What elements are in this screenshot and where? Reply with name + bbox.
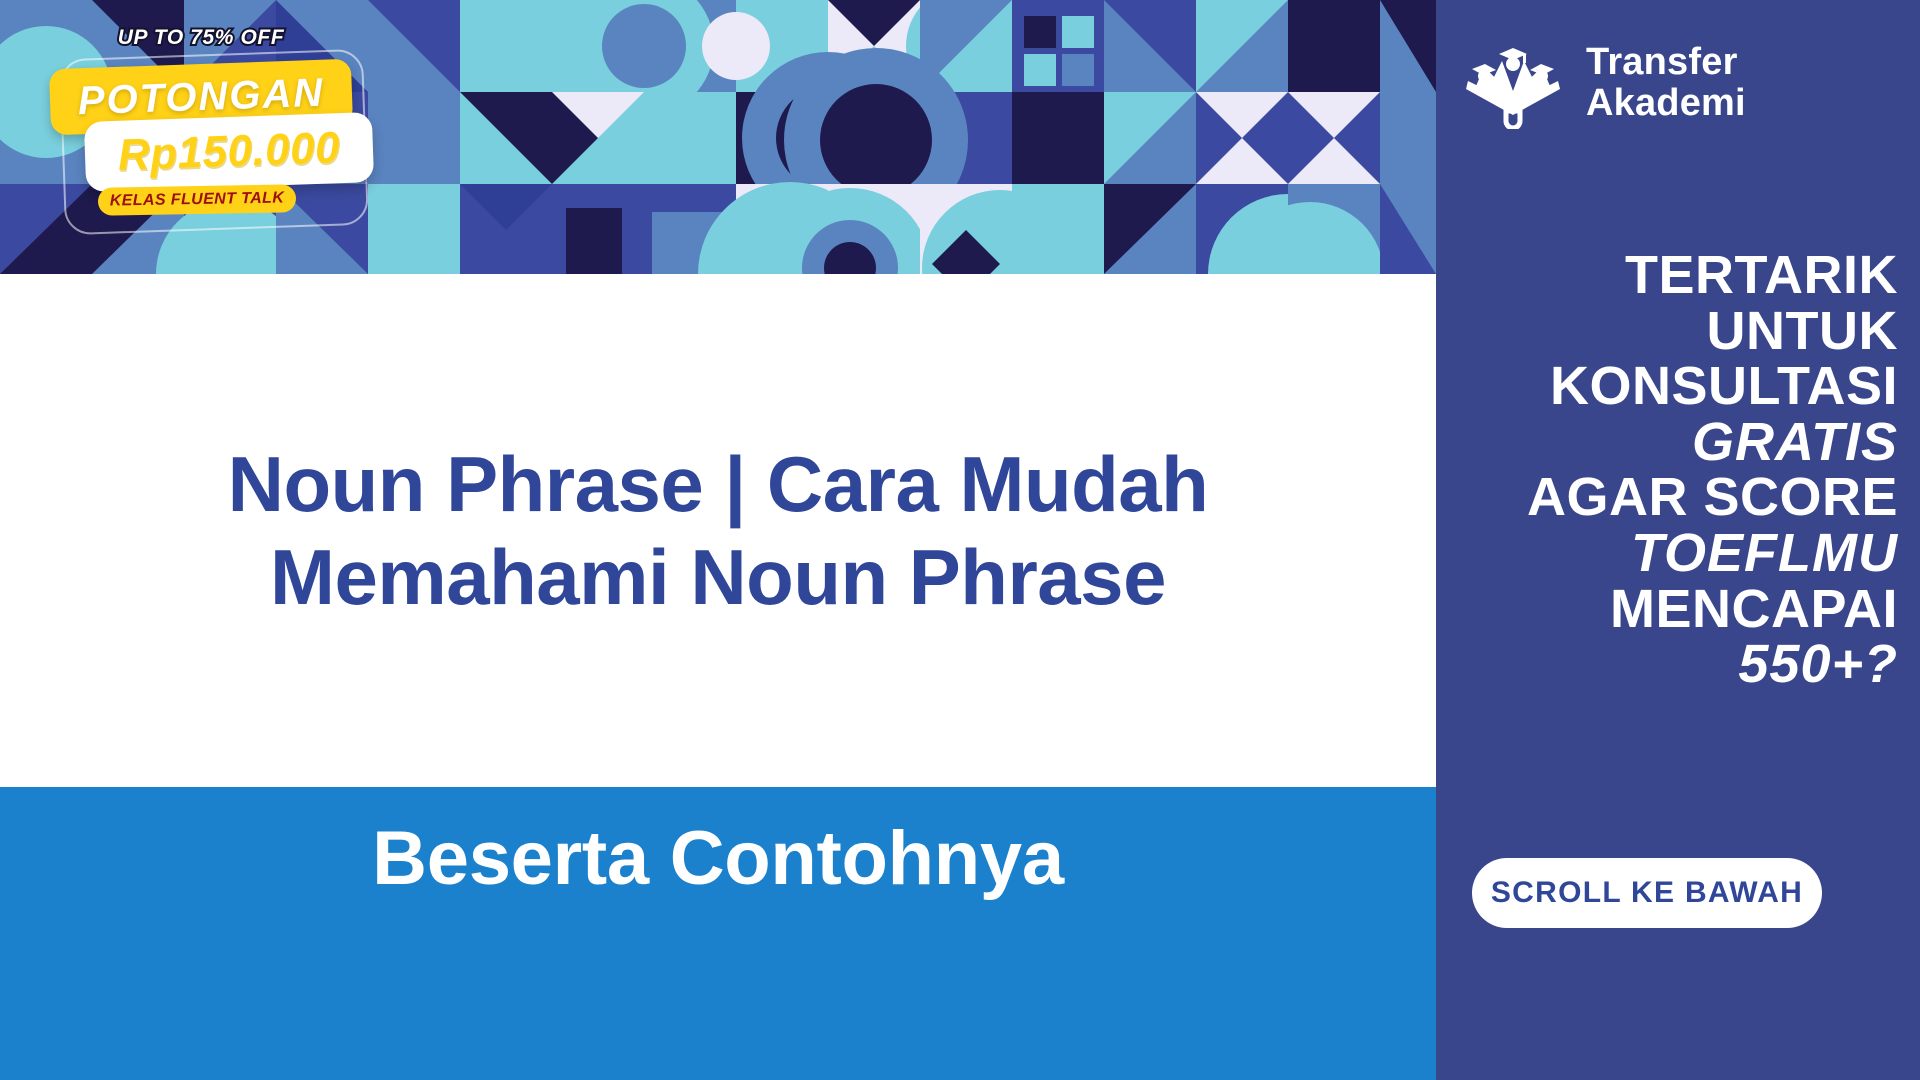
page-subtitle: Beserta Contohnya [0, 815, 1436, 902]
brand-line-2: Akademi [1586, 83, 1746, 123]
scroll-down-cta-button[interactable]: SCROLL KE BAWAH [1472, 858, 1822, 928]
brand-logo[interactable]: Transfer Akademi [1454, 30, 1906, 135]
pitch-line-5: AGAR SCORE [1446, 470, 1898, 526]
page-title-line-2: Memahami Noun Phrase [270, 531, 1166, 623]
pitch-line-6: TOEFLMU [1446, 526, 1898, 582]
pitch-line-7: MENCAPAI [1446, 582, 1898, 638]
promo-badge-cluster: UP TO 75% OFF POTONGAN Rp150.000 KELAS F… [0, 0, 430, 274]
main-column: UP TO 75% OFF POTONGAN Rp150.000 KELAS F… [0, 0, 1436, 1080]
promo-price-label: Rp150.000 [84, 112, 374, 192]
pitch-line-2: UNTUK [1446, 304, 1898, 360]
promo-class-badge: KELAS FLUENT TALK [98, 184, 296, 215]
pitch-line-8: 550+? [1446, 637, 1898, 693]
pitch-line-1: TERTARIK [1446, 248, 1898, 304]
promo-landing-page: UP TO 75% OFF POTONGAN Rp150.000 KELAS F… [0, 0, 1920, 1080]
page-title-line-1: Noun Phrase | Cara Mudah [228, 438, 1209, 530]
brand-name: Transfer Akademi [1586, 42, 1746, 123]
brand-line-1: Transfer [1586, 42, 1746, 82]
sidebar-pitch-text: TERTARIK UNTUK KONSULTASI GRATIS AGAR SC… [1446, 248, 1910, 693]
article-title-block: Noun Phrase | Cara Mudah Memahami Noun P… [0, 274, 1436, 787]
promo-price-badge: Rp150.000 [84, 112, 374, 192]
pitch-line-4: GRATIS [1446, 415, 1898, 471]
pitch-line-3: KONSULTASI [1446, 359, 1898, 415]
open-book-graduates-icon [1454, 37, 1572, 129]
promo-class-label: KELAS FLUENT TALK [98, 184, 296, 215]
subtitle-band: Beserta Contohnya [0, 787, 1436, 1080]
promo-discount-headline: UP TO 75% OFF [56, 26, 346, 50]
